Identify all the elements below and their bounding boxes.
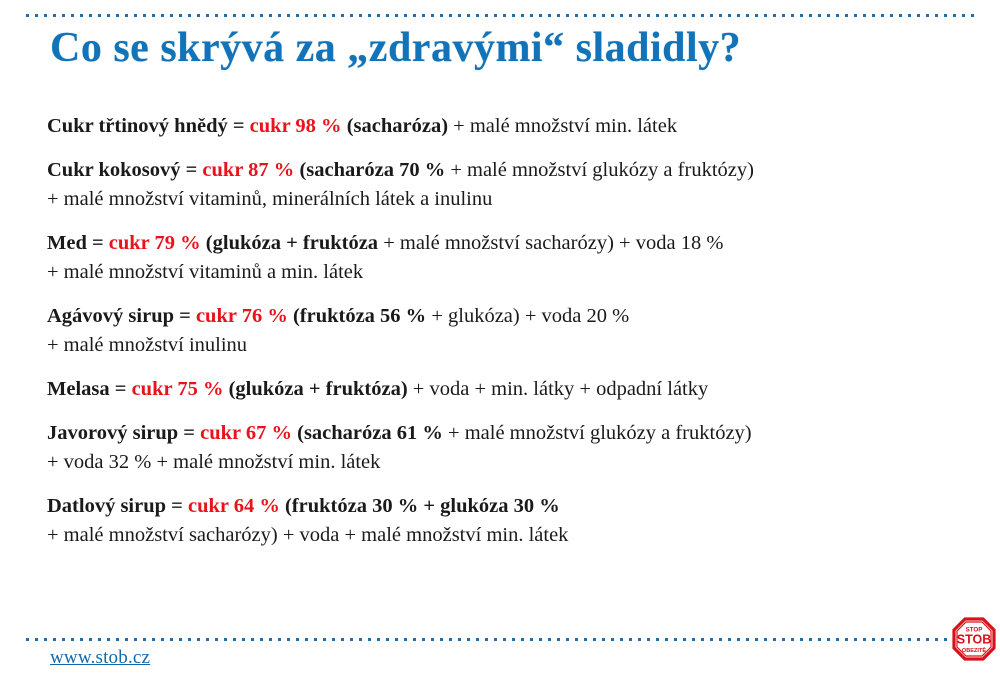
page-title: Co se skrývá za „zdravými“ sladidly? <box>50 24 741 72</box>
text-segment: (fruktóza 56 % <box>288 305 426 327</box>
text-segment: (glukóza + fruktóza <box>201 232 378 254</box>
entry-line: + malé množství inulinu <box>47 331 957 360</box>
text-segment: + malé množství sacharózy) + voda + malé… <box>47 524 568 546</box>
text-segment: Cukr třtinový hnědý = <box>47 115 250 137</box>
text-segment: Med = <box>47 232 109 254</box>
sweetener-list: Cukr třtinový hnědý = cukr 98 % (sacharó… <box>47 112 957 565</box>
entry-line: Med = cukr 79 % (glukóza + fruktóza + ma… <box>47 229 957 258</box>
entry-line: + voda 32 % + malé množství min. látek <box>47 448 957 477</box>
text-segment: + voda + min. látky + odpadní látky <box>408 378 709 400</box>
stob-logo: STOP STOB OBEZITĚ <box>952 617 996 663</box>
entry-line: + malé množství vitaminů, minerálních lá… <box>47 185 957 214</box>
text-segment: + voda 32 % + malé množství min. látek <box>47 451 380 473</box>
bottom-divider <box>26 638 974 641</box>
text-segment: (sacharóza 61 % <box>292 422 443 444</box>
sugar-percent-highlight: cukr 98 % <box>250 115 342 137</box>
text-segment: (fruktóza 30 % + glukóza 30 % <box>280 495 560 517</box>
entry-line: Datlový sirup = cukr 64 % (fruktóza 30 %… <box>47 492 957 521</box>
text-segment: Javorový sirup = <box>47 422 200 444</box>
sugar-percent-highlight: cukr 64 % <box>188 495 280 517</box>
sugar-percent-highlight: cukr 75 % <box>132 378 224 400</box>
text-segment: + malé množství min. látek <box>448 115 677 137</box>
sugar-percent-highlight: cukr 76 % <box>196 305 288 327</box>
text-segment: (glukóza + fruktóza) <box>223 378 407 400</box>
text-segment: Cukr kokosový = <box>47 159 202 181</box>
entry-line: Javorový sirup = cukr 67 % (sacharóza 61… <box>47 419 957 448</box>
text-segment: + malé množství vitaminů a min. látek <box>47 261 363 283</box>
sweetener-entry-cukr-trtinovy-hnedy: Cukr třtinový hnědý = cukr 98 % (sacharó… <box>47 112 957 141</box>
entry-line: Melasa = cukr 75 % (glukóza + fruktóza) … <box>47 375 957 404</box>
sugar-percent-highlight: cukr 79 % <box>109 232 201 254</box>
website-link[interactable]: www.stob.cz <box>50 647 150 669</box>
sugar-percent-highlight: cukr 67 % <box>200 422 292 444</box>
text-segment: Melasa = <box>47 378 132 400</box>
entry-line: Cukr kokosový = cukr 87 % (sacharóza 70 … <box>47 156 957 185</box>
text-segment: + glukóza) + voda 20 % <box>426 305 629 327</box>
slide: Co se skrývá za „zdravými“ sladidly? Cuk… <box>0 0 1000 680</box>
text-segment: + malé množství vitaminů, minerálních lá… <box>47 188 492 210</box>
text-segment: + malé množství sacharózy) + voda 18 % <box>378 232 723 254</box>
text-segment: + malé množství inulinu <box>47 334 247 356</box>
text-segment: (sacharóza) <box>342 115 448 137</box>
sweetener-entry-datlovy-sirup: Datlový sirup = cukr 64 % (fruktóza 30 %… <box>47 492 957 550</box>
logo-main-text: STOB <box>957 633 992 647</box>
entry-line: + malé množství sacharózy) + voda + malé… <box>47 521 957 550</box>
top-divider <box>26 14 974 17</box>
logo-bottom-text: OBEZITĚ <box>962 646 987 654</box>
sugar-percent-highlight: cukr 87 % <box>202 159 294 181</box>
text-segment: Agávový sirup = <box>47 305 196 327</box>
text-segment: Datlový sirup = <box>47 495 188 517</box>
text-segment: (sacharóza 70 % <box>294 159 445 181</box>
sweetener-entry-med: Med = cukr 79 % (glukóza + fruktóza + ma… <box>47 229 957 287</box>
entry-line: + malé množství vitaminů a min. látek <box>47 258 957 287</box>
sweetener-entry-agavovy-sirup: Agávový sirup = cukr 76 % (fruktóza 56 %… <box>47 302 957 360</box>
text-segment: + malé množství glukózy a fruktózy) <box>445 159 754 181</box>
sweetener-entry-cukr-kokosovy: Cukr kokosový = cukr 87 % (sacharóza 70 … <box>47 156 957 214</box>
sweetener-entry-javorovy-sirup: Javorový sirup = cukr 67 % (sacharóza 61… <box>47 419 957 477</box>
sweetener-entry-melasa: Melasa = cukr 75 % (glukóza + fruktóza) … <box>47 375 957 404</box>
entry-line: Cukr třtinový hnědý = cukr 98 % (sacharó… <box>47 112 957 141</box>
text-segment: + malé množství glukózy a fruktózy) <box>443 422 752 444</box>
entry-line: Agávový sirup = cukr 76 % (fruktóza 56 %… <box>47 302 957 331</box>
